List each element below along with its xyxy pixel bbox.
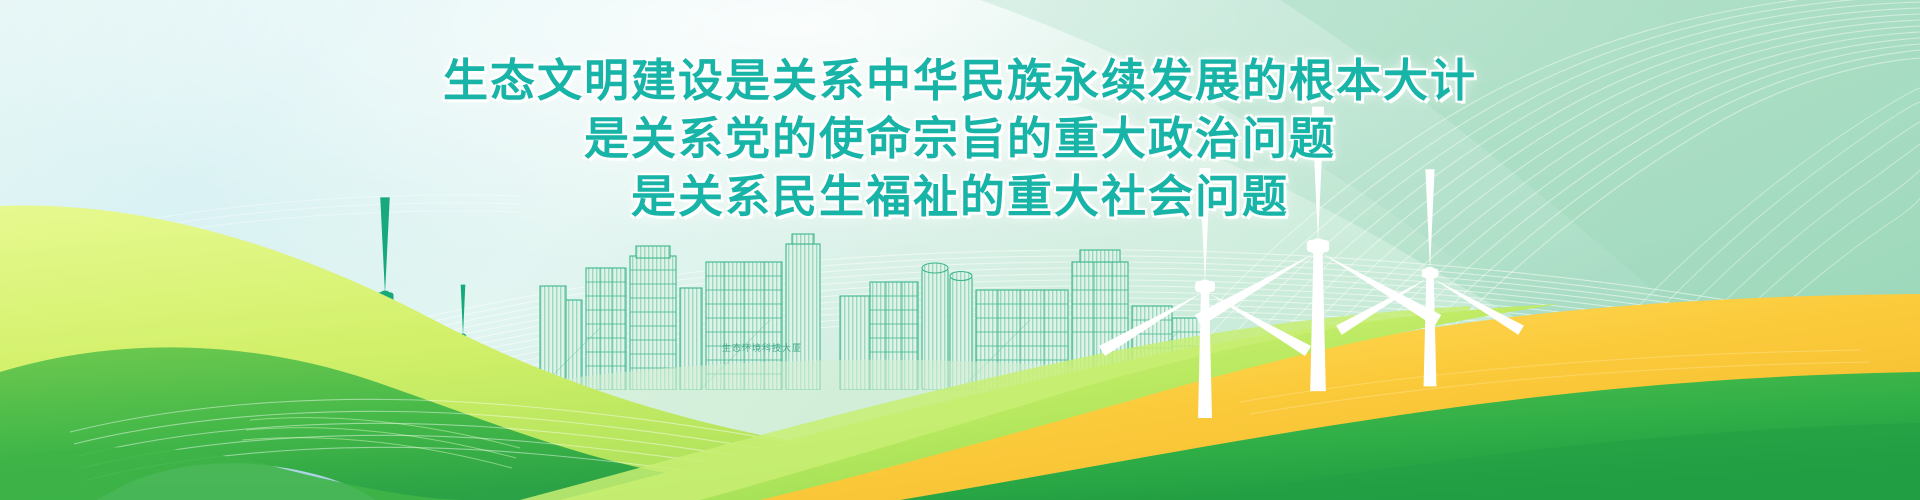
wind-turbines-right	[0, 0, 1920, 500]
eco-civilization-banner: 生态环境科技大厦	[0, 0, 1920, 500]
